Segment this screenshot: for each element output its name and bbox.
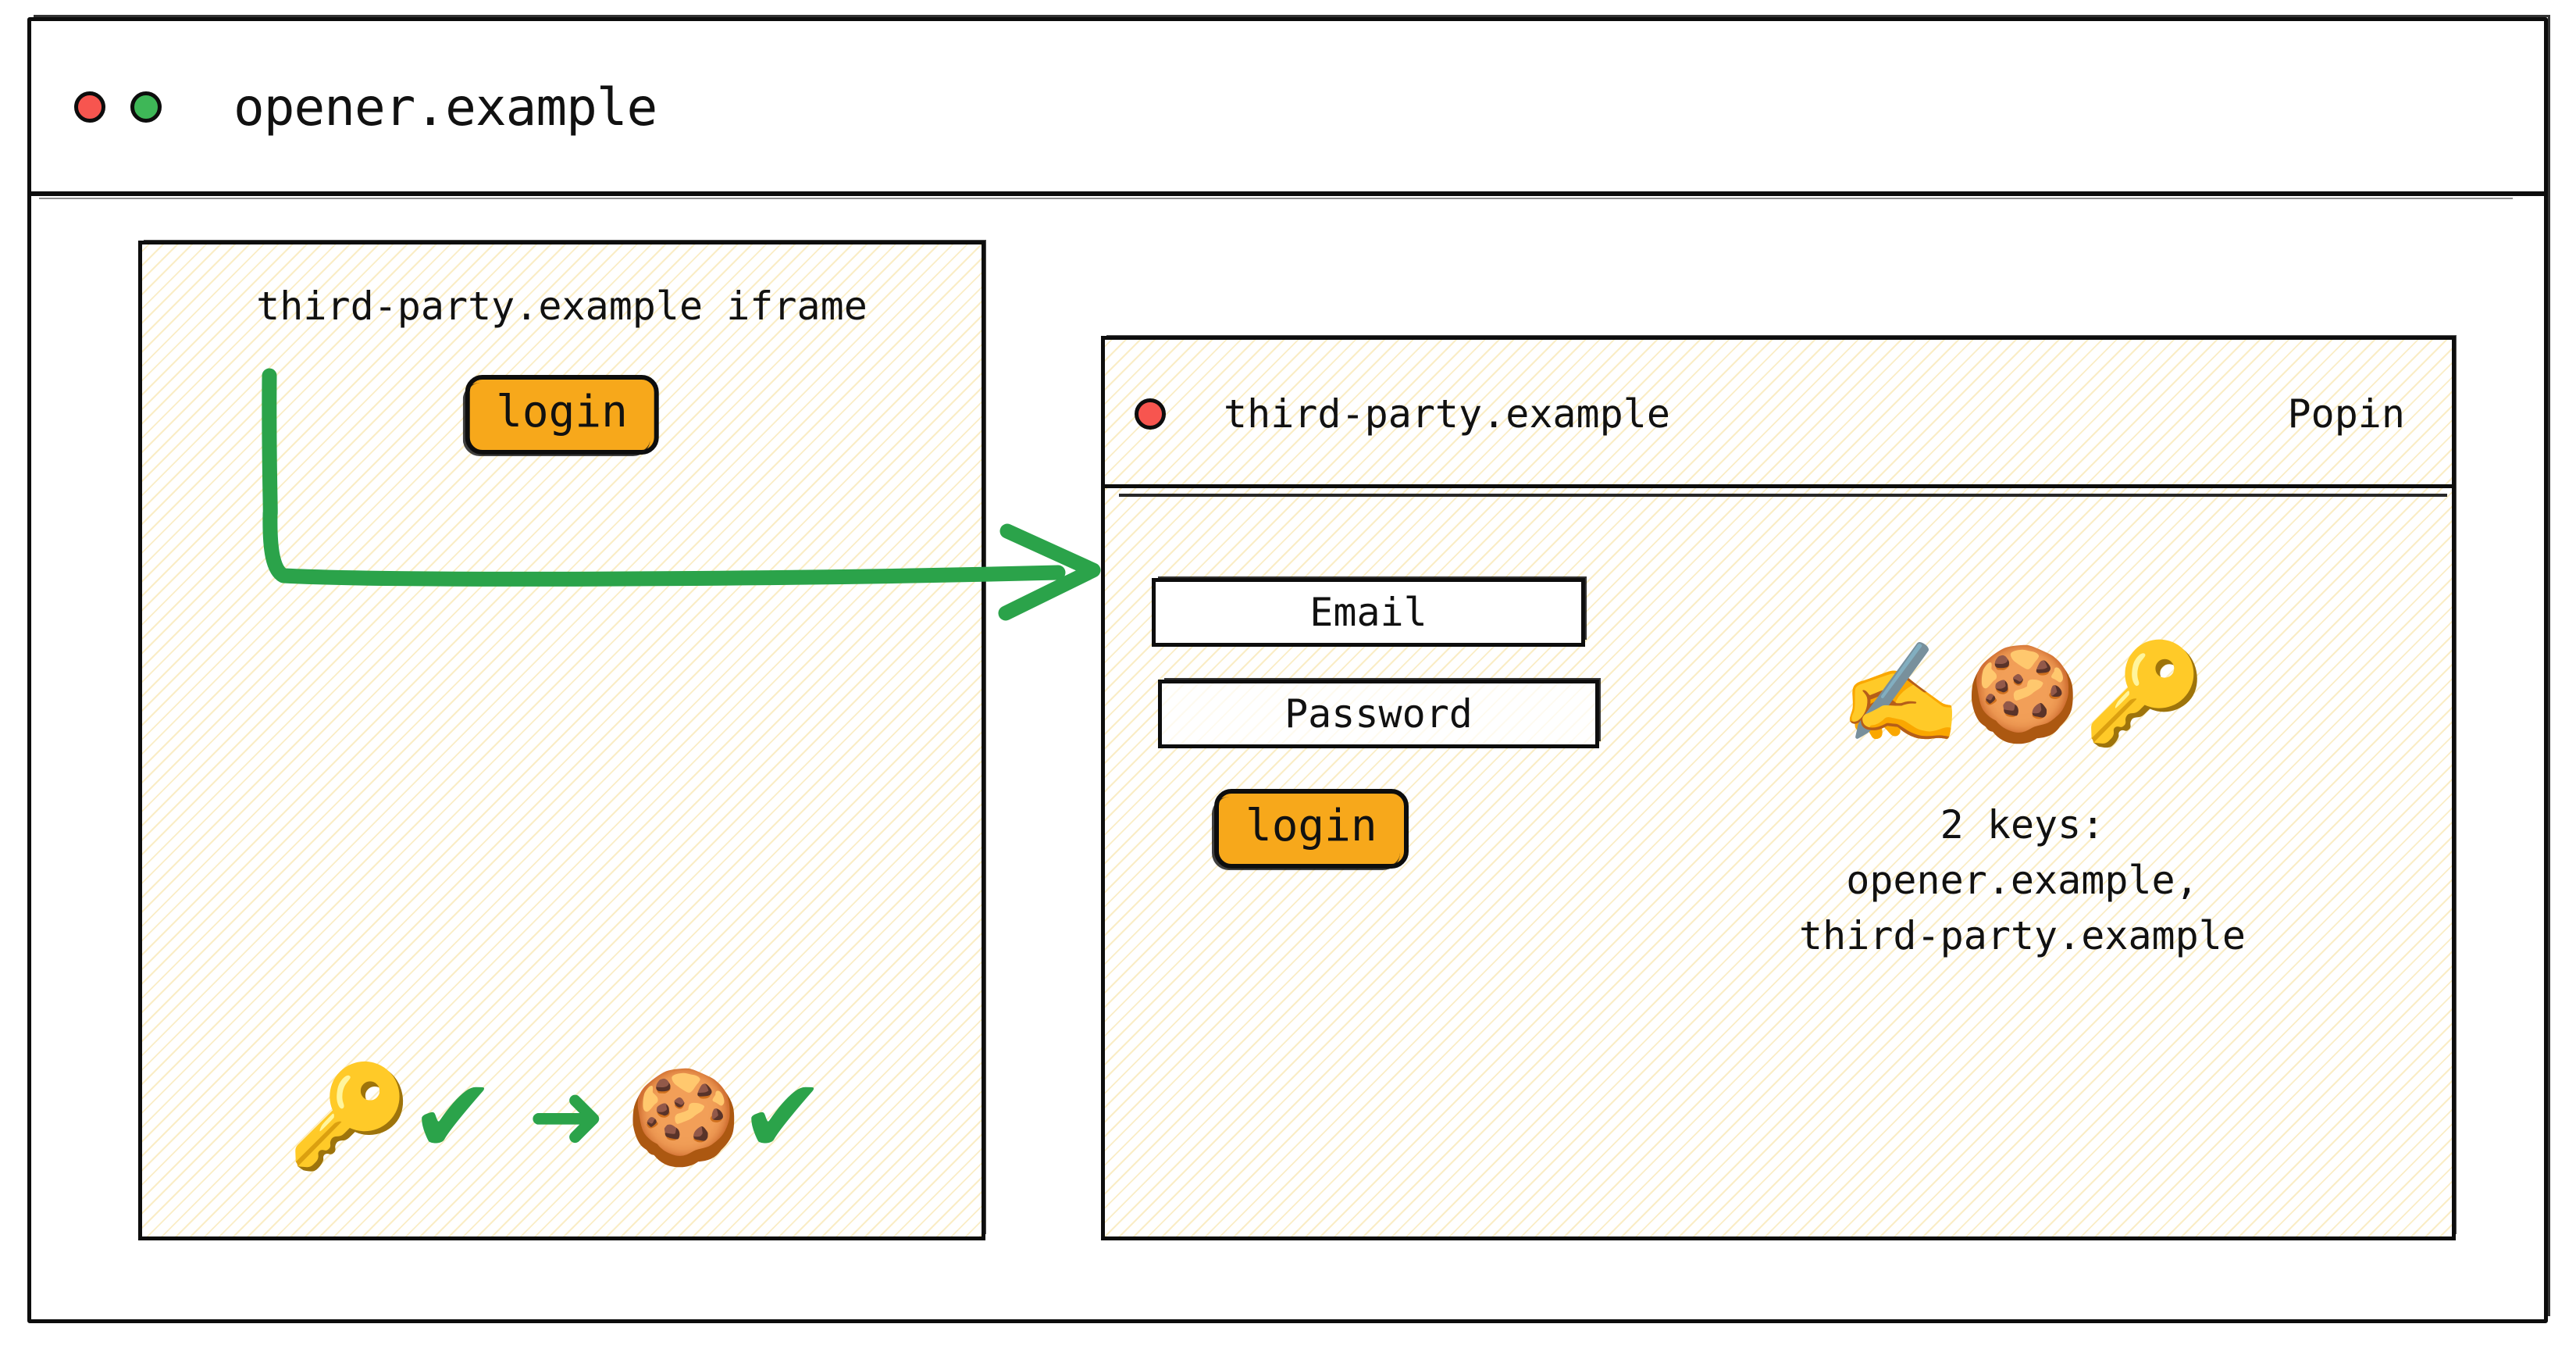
popin-header: third-party.example Popin — [1105, 340, 2452, 488]
popin-storage-summary: ✍️ 🍪 🔑 2 keys: opener.example, third-par… — [1636, 644, 2409, 964]
window-maximize-button[interactable] — [130, 91, 162, 123]
key-allowed-check-icon: ✔ — [410, 1065, 497, 1169]
iframe-panel-title: third-party.example iframe — [142, 284, 982, 329]
cookie-icon: 🍪 — [626, 1071, 741, 1163]
popin-body: Email Password login ✍️ 🍪 🔑 2 keys: open… — [1105, 496, 2452, 1236]
browser-window: opener.example third-party.example ifram… — [27, 17, 2548, 1323]
key-icon: 🔑 — [2083, 644, 2205, 743]
popin-storage-icons: ✍️ 🍪 🔑 — [1636, 644, 2409, 743]
popin-login-button[interactable]: login — [1214, 789, 1409, 869]
window-close-button[interactable] — [74, 91, 105, 123]
popin-header-divider — [1105, 484, 2452, 488]
cookie-icon: 🍪 — [1965, 648, 2080, 740]
arrow-right-icon: ➜ — [527, 1070, 606, 1164]
iframe-storage-row: 🔑 ✔ ➜ 🍪 ✔ — [142, 1019, 982, 1215]
popin-close-button[interactable] — [1135, 398, 1166, 430]
iframe-login-button[interactable]: login — [465, 375, 659, 455]
popin-origin-label: third-party.example — [1224, 391, 1670, 437]
window-title: opener.example — [233, 77, 657, 137]
popin-panel: third-party.example Popin Email Password… — [1101, 336, 2456, 1240]
browser-title-bar: opener.example — [31, 21, 2544, 193]
writing-hand-icon: ✍️ — [1840, 644, 1962, 743]
key-icon: 🔑 — [287, 1067, 411, 1167]
popin-type-label: Popin — [2287, 391, 2405, 437]
password-field[interactable]: Password — [1158, 680, 1599, 748]
popin-keys-caption: 2 keys: opener.example, third-party.exam… — [1636, 798, 2409, 964]
title-bar-divider — [31, 191, 2544, 196]
email-field[interactable]: Email — [1152, 578, 1585, 647]
third-party-iframe-panel: third-party.example iframe login 🔑 ✔ ➜ 🍪… — [138, 241, 985, 1240]
cookie-allowed-check-icon: ✔ — [739, 1065, 826, 1169]
popin-login-form: Email Password login — [1152, 578, 1612, 869]
